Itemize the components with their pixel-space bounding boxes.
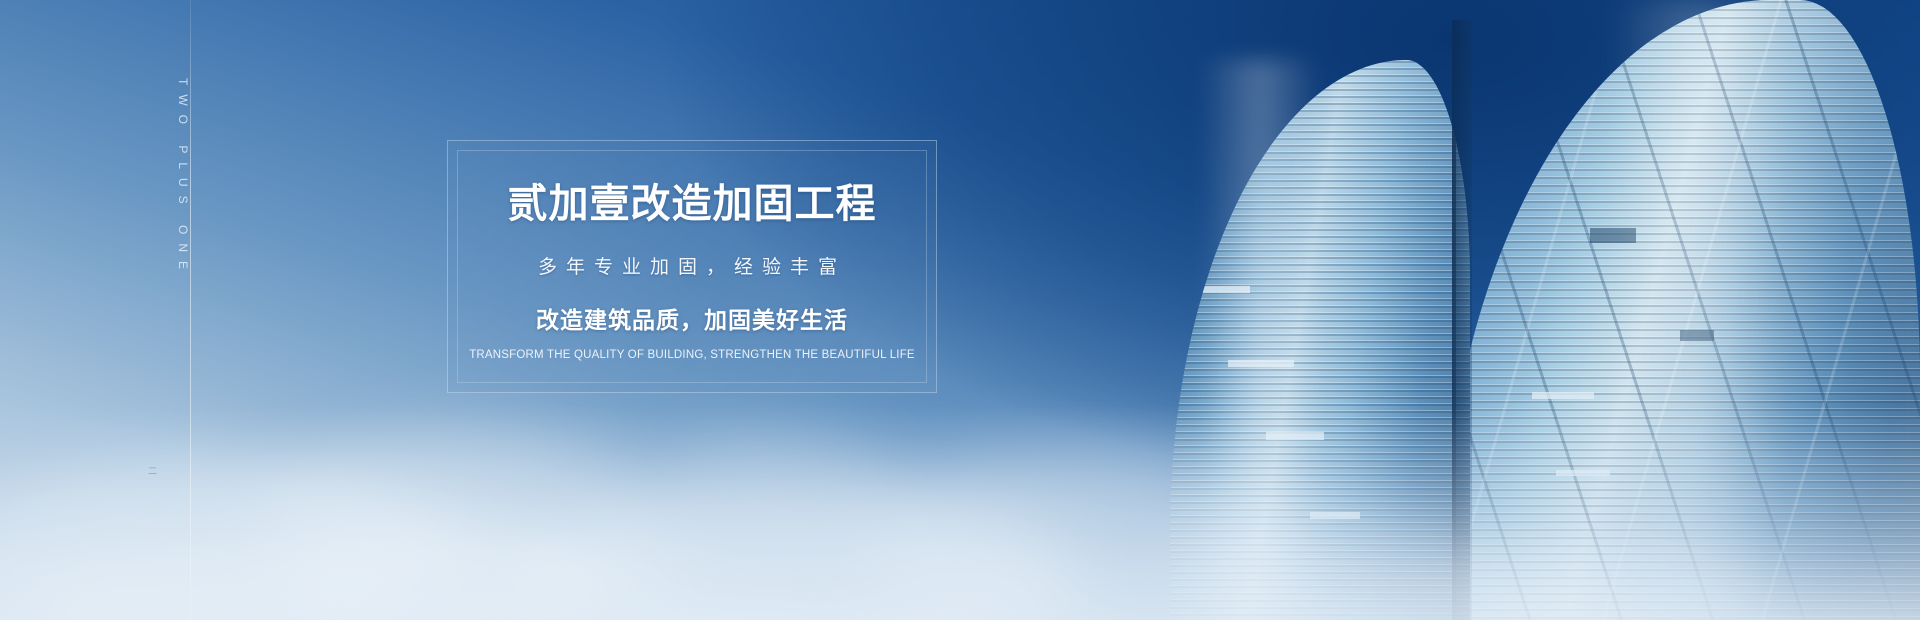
window-panel [1198, 286, 1250, 293]
sub-headline: 改造建筑品质，加固美好生活 [536, 301, 848, 335]
vertical-divider [190, 0, 191, 620]
window-panel [1532, 392, 1594, 399]
window-panel [1590, 228, 1636, 243]
window-panel [1228, 360, 1294, 367]
tagline: 多年专业加固，经验丰富 [538, 252, 846, 279]
hero-banner: TWO PLUS ONE 二 贰加壹改造加固工程 多年专业加固，经验丰富 改造建… [0, 0, 1920, 620]
side-brand-label: TWO PLUS ONE [176, 78, 190, 278]
page-title: 贰加壹改造加固工程 [508, 184, 877, 224]
window-panel [1680, 330, 1714, 341]
english-caption: TRANSFORM THE QUALITY OF BUILDING, STREN… [469, 349, 915, 361]
horizon-haze [0, 405, 1920, 620]
headline-content: 贰加壹改造加固工程 多年专业加固，经验丰富 改造建筑品质，加固美好生活 TRAN… [447, 140, 937, 393]
side-mark: 二 [146, 466, 159, 478]
